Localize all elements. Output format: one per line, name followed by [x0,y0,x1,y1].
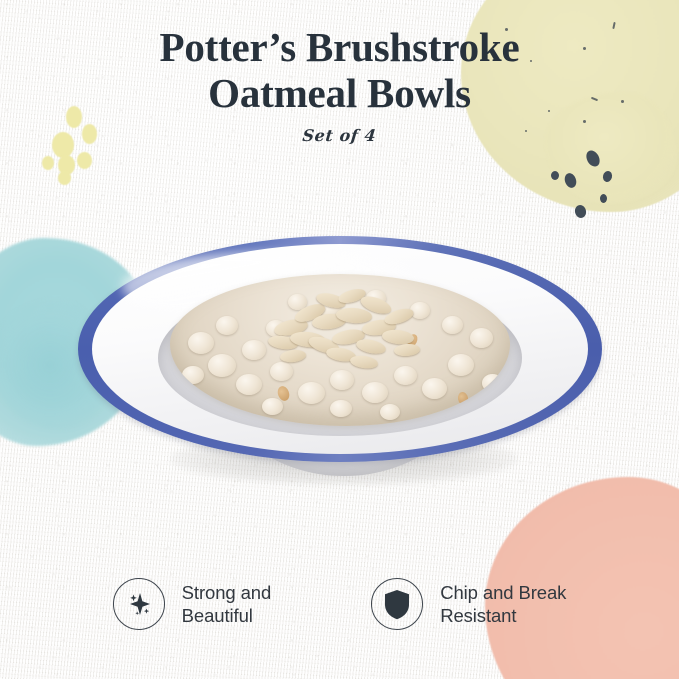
feature-strong-and-beautiful: Strong and Beautiful [113,578,272,630]
shield-icon [371,578,423,630]
heading-block: Potter’s Brushstroke Oatmeal Bowls Set o… [0,24,679,145]
feature-badges: Strong and Beautiful Chip and Break Resi… [0,578,679,630]
feature-label: Strong and Beautiful [182,581,272,627]
feature-chip-and-break-resistant: Chip and Break Resistant [371,578,566,630]
ink-speck [551,171,559,180]
dry-oat-flakes [264,288,422,372]
feature-label: Chip and Break Resistant [440,581,566,627]
ink-speck [600,194,607,203]
sparkle-icon [113,578,165,630]
page-subtitle: Set of 4 [0,126,679,145]
page-title-line-2: Oatmeal Bowls [0,70,679,116]
oatmeal-bowl-image [78,236,602,506]
product-marketing-image: Potter’s Brushstroke Oatmeal Bowls Set o… [0,0,679,679]
page-title-line-1: Potter’s Brushstroke [0,24,679,70]
